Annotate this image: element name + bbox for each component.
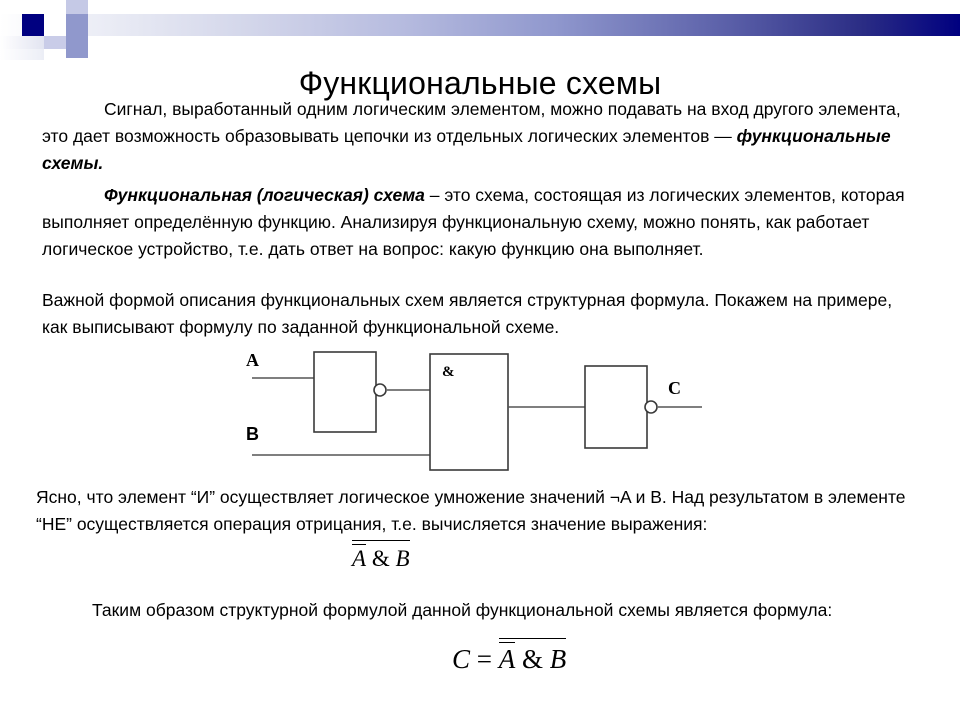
deco-strip-left-lower <box>0 49 44 60</box>
deco-square-light-top <box>66 0 88 14</box>
paragraph-structural-formula: Важной формой описания функциональных сх… <box>42 287 918 341</box>
inversion-bubble-out <box>645 401 657 413</box>
circuit-label-c: C <box>668 378 681 399</box>
deco-square-mid-lower <box>66 36 88 58</box>
deco-square-white-lower <box>88 36 110 49</box>
formula-equals: = <box>470 644 499 674</box>
paragraph-explanation: Ясно, что элемент “И” осуществляет логич… <box>36 484 920 538</box>
and-gate-symbol: & <box>442 364 455 381</box>
not-gate-out-box <box>585 366 647 448</box>
formula-b: B <box>395 546 409 571</box>
formula-expression: A & B <box>352 540 410 572</box>
paragraph-conclusion: Таким образом структурной формулой данно… <box>92 596 872 624</box>
formula-result-lhs: C <box>452 644 470 674</box>
deco-square-navy <box>22 14 44 36</box>
deco-square-mid-upper <box>66 14 88 36</box>
formula-result-outer-overline: A & B <box>499 638 567 675</box>
slide: Функциональные схемы Сигнал, выработанны… <box>0 0 960 720</box>
formula-result-b: B <box>550 644 567 674</box>
formula-outer-overline: A & B <box>352 540 410 572</box>
circuit-label-a: A <box>246 350 259 371</box>
gradient-bar <box>0 14 960 36</box>
formula-and-operator: & <box>366 546 395 571</box>
deco-square-light-lower <box>44 36 66 49</box>
paragraph-definition: Функциональная (логическая) схема – это … <box>42 182 918 263</box>
not-gate-a-box <box>314 352 376 432</box>
formula-result-and-operator: & <box>515 644 550 674</box>
formula-a-negated: A <box>352 544 366 572</box>
definition-term: Функциональная (логическая) схема <box>104 185 425 205</box>
deco-square-white-mid <box>44 14 66 36</box>
header-decoration <box>0 0 960 60</box>
formula-result-a-negated: A <box>499 642 516 675</box>
paragraph-signal-chain: Сигнал, выработанный одним логическим эл… <box>42 96 918 177</box>
logic-circuit-diagram: A B C & <box>230 340 720 485</box>
circuit-label-b: B <box>246 424 259 445</box>
deco-strip-left-upper <box>0 36 44 49</box>
formula-result: C = A & B <box>452 638 566 675</box>
deco-square-white-top <box>44 0 66 14</box>
inversion-bubble-a <box>374 384 386 396</box>
